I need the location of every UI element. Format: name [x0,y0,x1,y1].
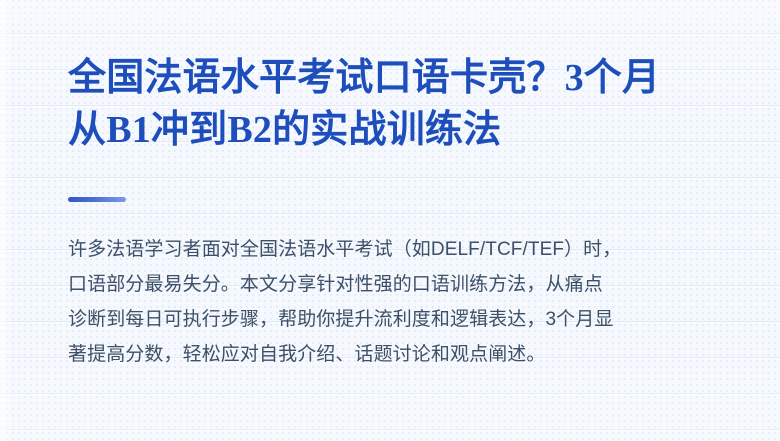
title-divider-bar [68,197,126,202]
background-left-highlight-strip [0,0,12,441]
article-summary: 许多法语学习者面对全国法语水平考试（如DELF/TCF/TEF）时， 口语部分最… [68,232,718,372]
article-cover-card: 全国法语水平考试口语卡壳？3个月 从B1冲到B2的实战训练法 许多法语学习者面对… [0,0,780,441]
card-content: 全国法语水平考试口语卡壳？3个月 从B1冲到B2的实战训练法 许多法语学习者面对… [68,0,716,441]
article-title: 全国法语水平考试口语卡壳？3个月 从B1冲到B2的实战训练法 [68,52,716,156]
